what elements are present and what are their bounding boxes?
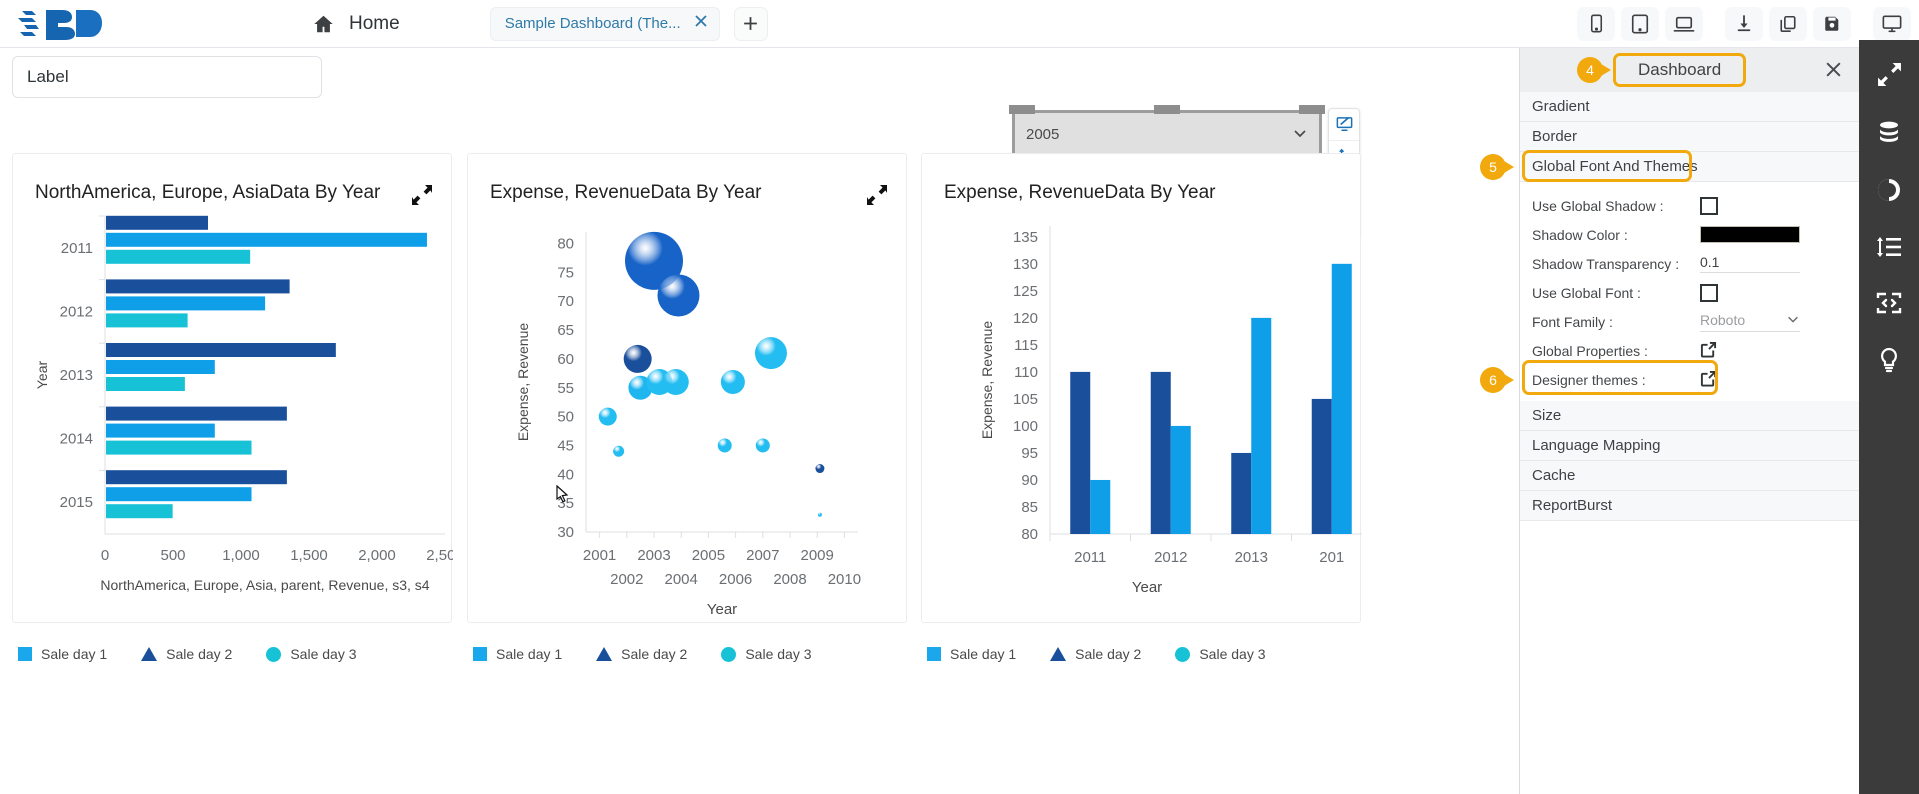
chart-title: Expense, RevenueData By Year	[944, 182, 1215, 204]
external-link-icon[interactable]	[1700, 370, 1717, 390]
svg-text:110: 110	[1014, 364, 1038, 381]
font-family-select[interactable]: Roboto	[1700, 312, 1800, 332]
step-badge-4: 4	[1577, 57, 1603, 83]
legend-label: Sale day 2	[1075, 646, 1141, 662]
legend-item[interactable]: Sale day 2	[141, 646, 232, 662]
properties-panel: 4 Dashboard Gradient Border 5 Global Fon…	[1519, 48, 1859, 794]
mobile-preview-button[interactable]	[1577, 7, 1615, 41]
pie-chart-icon[interactable]	[1876, 177, 1902, 203]
chart-legend: Sale day 1 Sale day 2 Sale day 3	[18, 646, 357, 662]
svg-text:2007: 2007	[746, 547, 779, 564]
legend-label: Sale day 3	[1199, 646, 1265, 662]
svg-text:0: 0	[101, 547, 109, 564]
section-label: Language Mapping	[1532, 437, 1660, 454]
legend-square-icon	[473, 647, 487, 661]
legend-square-icon	[927, 647, 941, 661]
svg-text:1,500: 1,500	[290, 547, 328, 564]
svg-text:2006: 2006	[719, 571, 752, 588]
svg-text:Year: Year	[1132, 579, 1162, 596]
legend-label: Sale day 1	[41, 646, 107, 662]
svg-text:85: 85	[1021, 499, 1038, 516]
home-nav[interactable]: Home	[312, 13, 400, 35]
legend-label: Sale day 1	[950, 646, 1016, 662]
svg-text:2005: 2005	[692, 547, 725, 564]
dashboard-tab[interactable]: Sample Dashboard (The...	[490, 7, 720, 41]
svg-text:201: 201	[1319, 549, 1344, 566]
dashboard-canvas: 2005 fx NorthAmerica, Europe, AsiaData B…	[0, 48, 1519, 794]
step-badge-6: 6	[1480, 367, 1506, 393]
svg-text:2010: 2010	[828, 571, 861, 588]
svg-text:125: 125	[1013, 283, 1038, 300]
prop-shadow-color[interactable]: Shadow Color :	[1520, 220, 1859, 249]
section-language-mapping[interactable]: Language Mapping	[1520, 431, 1859, 461]
legend-triangle-icon	[141, 647, 157, 661]
svg-text:80: 80	[1021, 526, 1038, 543]
close-panel-icon[interactable]	[1824, 60, 1843, 83]
chart-legend: Sale day 1 Sale day 2 Sale day 3	[927, 646, 1266, 662]
svg-text:2001: 2001	[583, 547, 616, 564]
spacing-list-icon[interactable]	[1876, 235, 1902, 259]
svg-text:115: 115	[1014, 337, 1038, 354]
step-badge-5: 5	[1480, 154, 1506, 180]
svg-text:2008: 2008	[773, 571, 806, 588]
chart-card-bar[interactable]: NorthAmerica, Europe, AsiaData By Year 2…	[12, 153, 452, 623]
preview-actions	[1577, 7, 1919, 41]
legend-label: Sale day 2	[166, 646, 232, 662]
svg-text:Year: Year	[34, 361, 50, 390]
section-label: Cache	[1532, 467, 1575, 484]
scatter-chart-svg: 3035404550556065707580200120022003200420…	[468, 204, 908, 624]
top-toolbar: Home Sample Dashboard (The...	[0, 0, 1919, 48]
chart-title: NorthAmerica, Europe, AsiaData By Year	[35, 182, 380, 204]
database-icon[interactable]	[1876, 119, 1902, 145]
prop-label: Use Global Font :	[1532, 285, 1700, 301]
year-filter-widget[interactable]: 2005	[1012, 110, 1322, 158]
svg-text:40: 40	[557, 466, 574, 483]
shadow-color-swatch[interactable]	[1700, 226, 1800, 243]
svg-text:2012: 2012	[60, 303, 93, 320]
legend-label: Sale day 3	[745, 646, 811, 662]
svg-text:2003: 2003	[637, 547, 670, 564]
svg-text:100: 100	[1013, 418, 1038, 435]
prop-label: Shadow Color :	[1532, 227, 1700, 243]
prop-shadow-transparency[interactable]: Shadow Transparency : 0.1	[1520, 249, 1859, 278]
svg-text:2002: 2002	[610, 571, 643, 588]
svg-text:65: 65	[557, 322, 574, 339]
legend-item[interactable]: Sale day 3	[721, 646, 811, 662]
legend-circle-icon	[266, 647, 281, 662]
year-filter-select[interactable]: 2005	[1018, 116, 1316, 152]
tablet-preview-button[interactable]	[1621, 7, 1659, 41]
prop-use-global-shadow[interactable]: Use Global Shadow :	[1520, 191, 1859, 220]
section-label: Size	[1532, 407, 1561, 424]
svg-text:2014: 2014	[60, 431, 93, 448]
legend-item[interactable]: Sale day 1	[18, 646, 107, 662]
svg-text:90: 90	[1021, 472, 1038, 489]
section-global-font-and-themes[interactable]: 5 Global Font And Themes	[1520, 152, 1859, 182]
svg-text:2009: 2009	[801, 547, 834, 564]
svg-text:1,000: 1,000	[222, 547, 260, 564]
prop-label: Global Properties :	[1532, 343, 1700, 359]
laptop-preview-button[interactable]	[1665, 7, 1703, 41]
resize-handle-tc[interactable]	[1154, 105, 1180, 114]
prop-global-properties[interactable]: Global Properties :	[1520, 336, 1859, 365]
svg-text:Year: Year	[707, 601, 737, 618]
chart-title: Expense, RevenueData By Year	[490, 182, 761, 204]
section-cache[interactable]: Cache	[1520, 461, 1859, 491]
section-label: Gradient	[1532, 98, 1590, 115]
svg-text:2011: 2011	[61, 240, 93, 257]
legend-circle-icon	[721, 647, 736, 662]
svg-text:2015: 2015	[60, 494, 93, 511]
section-label: ReportBurst	[1532, 497, 1612, 514]
use-global-shadow-checkbox[interactable]	[1700, 197, 1718, 215]
panel-header: 4 Dashboard	[1520, 48, 1859, 92]
home-icon	[312, 13, 335, 35]
home-label: Home	[349, 13, 400, 35]
svg-text:80: 80	[557, 236, 574, 253]
label-input[interactable]	[12, 56, 322, 98]
svg-text:120: 120	[1013, 310, 1038, 327]
legend-item[interactable]: Sale day 1	[473, 646, 562, 662]
copy-button[interactable]	[1769, 7, 1807, 41]
prop-designer-themes[interactable]: 6 Designer themes :	[1520, 365, 1859, 394]
svg-text:500: 500	[160, 547, 185, 564]
svg-text:2013: 2013	[60, 367, 93, 384]
prop-font-family[interactable]: Font Family : Roboto	[1520, 307, 1859, 336]
svg-text:95: 95	[1021, 445, 1038, 462]
edit-widget-icon[interactable]	[1329, 109, 1359, 141]
chevron-down-icon	[1786, 312, 1800, 329]
dashboard-tab-label: Sample Dashboard (The...	[505, 15, 681, 32]
svg-text:2012: 2012	[1154, 549, 1187, 566]
section-size[interactable]: Size	[1520, 401, 1859, 431]
svg-text:55: 55	[557, 380, 574, 397]
legend-item[interactable]: Sale day 2	[1050, 646, 1141, 662]
svg-text:2,500: 2,500	[426, 547, 453, 564]
prop-label: Font Family :	[1532, 314, 1700, 330]
mouse-cursor-icon	[556, 485, 569, 508]
prop-use-global-font[interactable]: Use Global Font :	[1520, 278, 1859, 307]
svg-text:NorthAmerica, Europe, Asia, pa: NorthAmerica, Europe, Asia, parent, Reve…	[100, 577, 429, 593]
svg-text:60: 60	[557, 351, 574, 368]
svg-text:Expense, Revenue: Expense, Revenue	[515, 323, 531, 442]
resize-handle-tr[interactable]	[1299, 105, 1325, 114]
section-gradient[interactable]: Gradient	[1520, 92, 1859, 122]
right-tool-strip	[1859, 40, 1919, 794]
svg-text:30: 30	[557, 524, 574, 541]
panel-title: Dashboard	[1613, 53, 1746, 87]
svg-text:2,000: 2,000	[358, 547, 396, 564]
bar-chart-svg: 2011201220132014201505001,0001,5002,0002…	[13, 204, 453, 624]
legend-label: Sale day 3	[290, 646, 356, 662]
prop-label: Designer themes :	[1532, 372, 1700, 388]
svg-text:75: 75	[557, 264, 574, 281]
chart-legend: Sale day 1 Sale day 2 Sale day 3	[473, 646, 812, 662]
shadow-transparency-value[interactable]: 0.1	[1700, 254, 1800, 273]
legend-item[interactable]: Sale day 3	[1175, 646, 1265, 662]
section-border[interactable]: Border	[1520, 122, 1859, 152]
save-button[interactable]	[1813, 7, 1851, 41]
legend-item[interactable]: Sale day 1	[927, 646, 1016, 662]
svg-text:50: 50	[557, 409, 574, 426]
svg-text:130: 130	[1013, 256, 1038, 273]
lightbulb-icon[interactable]	[1877, 347, 1901, 373]
svg-text:45: 45	[557, 437, 574, 454]
section-reportburst[interactable]: ReportBurst	[1520, 491, 1859, 521]
external-link-icon[interactable]	[1700, 341, 1717, 361]
bdb-logo[interactable]	[16, 5, 116, 43]
expand-icon[interactable]	[1877, 62, 1902, 87]
legend-triangle-icon	[596, 647, 612, 661]
resize-handle-tl[interactable]	[1009, 105, 1035, 114]
legend-label: Sale day 2	[621, 646, 687, 662]
legend-square-icon	[18, 647, 32, 661]
svg-text:2004: 2004	[665, 571, 698, 588]
prop-label: Shadow Transparency :	[1532, 256, 1700, 272]
svg-text:2011: 2011	[1074, 549, 1106, 566]
svg-text:Expense, Revenue: Expense, Revenue	[979, 321, 995, 440]
legend-label: Sale day 1	[496, 646, 562, 662]
desktop-preview-button[interactable]	[1873, 7, 1911, 41]
code-brackets-icon[interactable]	[1876, 291, 1902, 315]
legend-circle-icon	[1175, 647, 1190, 662]
download-button[interactable]	[1725, 7, 1763, 41]
svg-text:70: 70	[557, 293, 574, 310]
legend-triangle-icon	[1050, 647, 1066, 661]
svg-text:135: 135	[1013, 229, 1038, 246]
close-icon[interactable]	[693, 13, 709, 34]
font-family-value: Roboto	[1700, 312, 1745, 328]
use-global-font-checkbox[interactable]	[1700, 284, 1718, 302]
legend-item[interactable]: Sale day 3	[266, 646, 356, 662]
section-label: Global Font And Themes	[1532, 158, 1698, 175]
section-label: Border	[1532, 128, 1577, 145]
add-tab-button[interactable]	[734, 7, 768, 41]
chart-card-column[interactable]: Expense, RevenueData By Year 80859095100…	[921, 153, 1361, 623]
chart-card-scatter[interactable]: Expense, RevenueData By Year 30354045505…	[467, 153, 907, 623]
column-chart-svg: 8085909510010511011512012513013520112012…	[922, 204, 1362, 624]
prop-label: Use Global Shadow :	[1532, 198, 1700, 214]
svg-text:2013: 2013	[1235, 549, 1268, 566]
legend-item[interactable]: Sale day 2	[596, 646, 687, 662]
svg-text:105: 105	[1013, 391, 1038, 408]
